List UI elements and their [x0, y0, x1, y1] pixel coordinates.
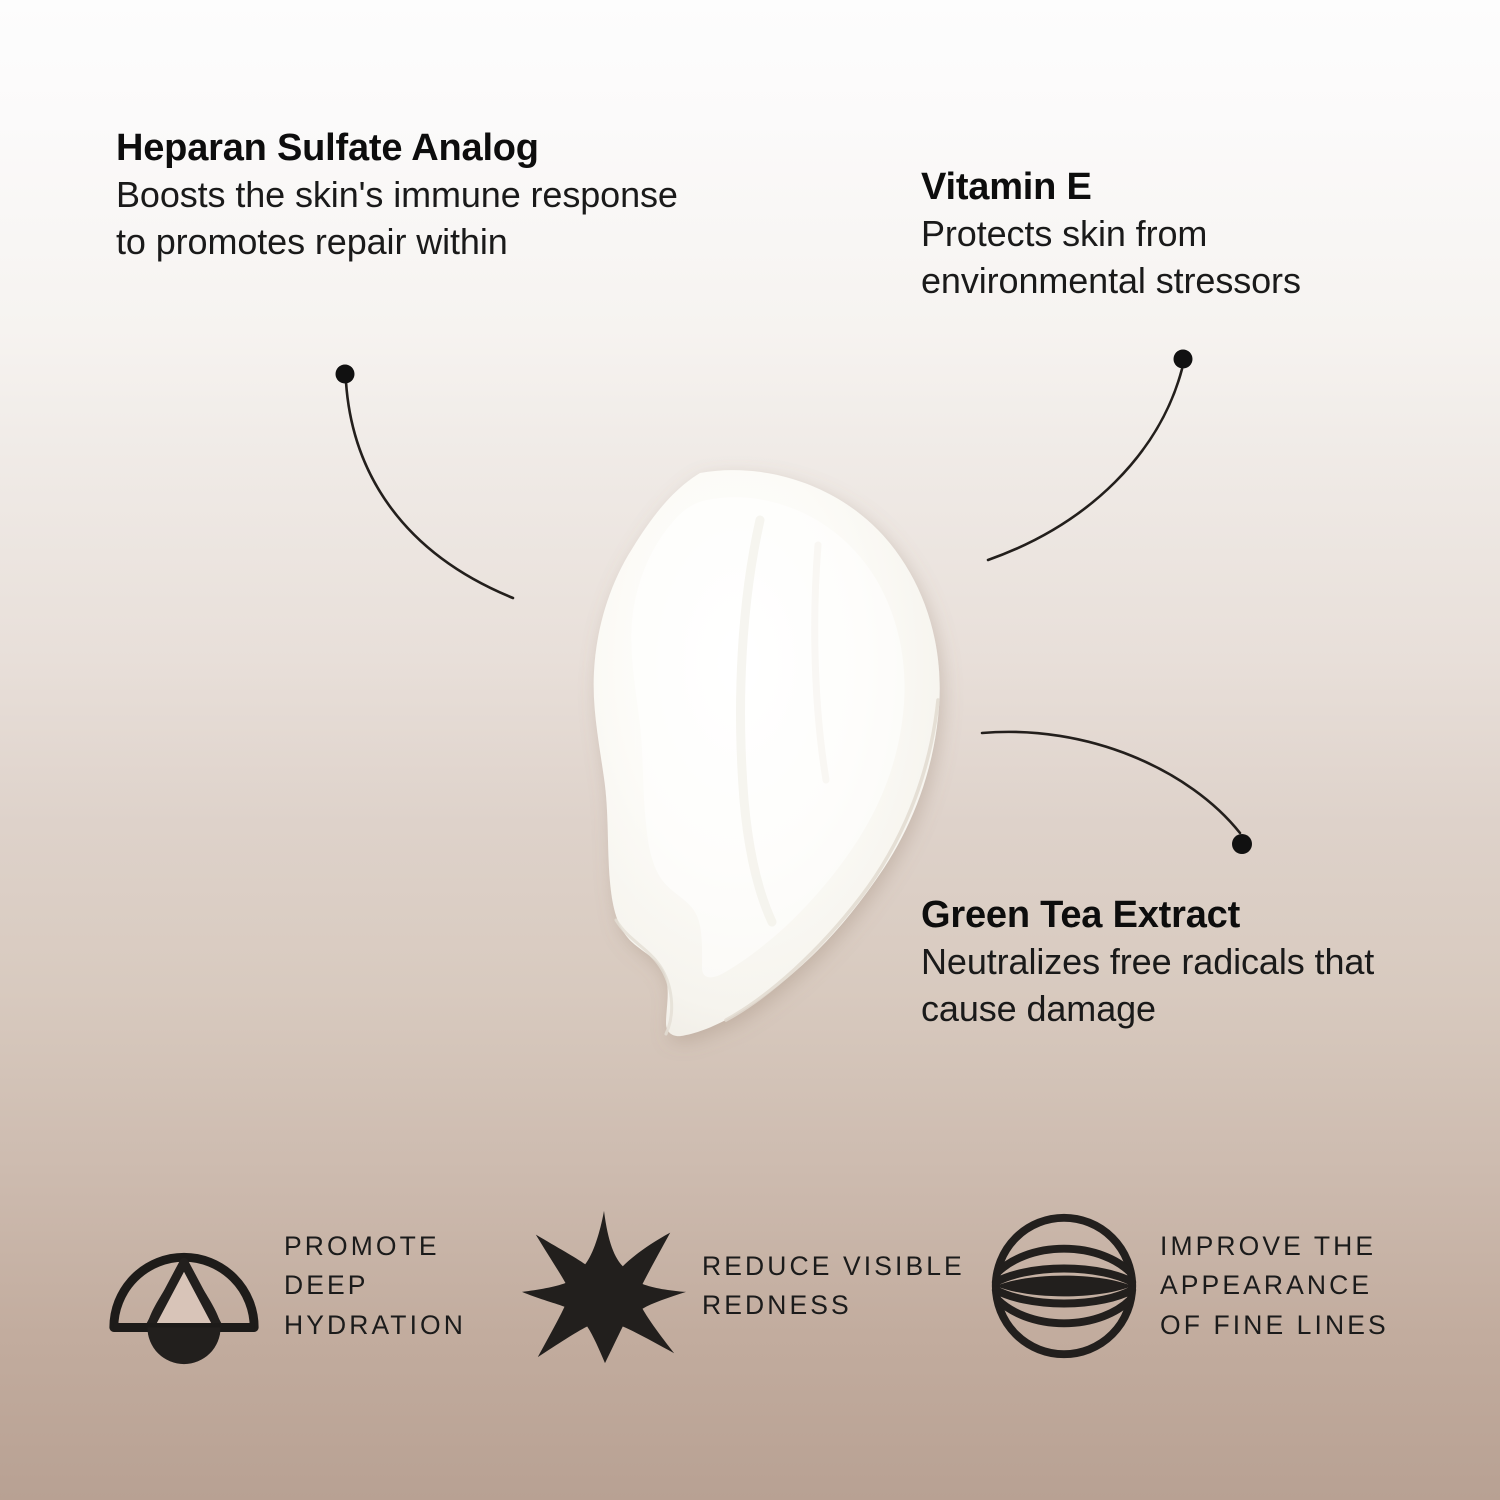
- benefit-reduce-visible-redness: Reduce visible redness: [520, 1196, 965, 1376]
- callout-body-green-tea-extract: Neutralizes free radicals that cause dam…: [921, 939, 1401, 1033]
- callout-title-heparan-sulfate-analog: Heparan Sulfate Analog: [116, 126, 716, 170]
- connector-vitamin-e: [988, 350, 1193, 561]
- callout-title-green-tea-extract: Green Tea Extract: [921, 893, 1401, 937]
- connector-heparan-sulfate: [336, 365, 514, 599]
- benefit-promote-deep-hydration: Promote deep hydration: [100, 1196, 466, 1376]
- connector-green-tea: [982, 732, 1252, 854]
- callout-body-vitamin-e: Protects skin from environmental stresso…: [921, 211, 1401, 305]
- benefit-label-improve-fine-lines: Improve the appearance of fine lines: [1160, 1227, 1389, 1345]
- benefit-improve-fine-lines: Improve the appearance of fine lines: [980, 1196, 1389, 1376]
- starburst-icon: [520, 1206, 688, 1366]
- callout-body-heparan-sulfate-analog: Boosts the skin's immune response to pro…: [116, 172, 716, 266]
- callout-heparan-sulfate-analog: Heparan Sulfate Analog Boosts the skin's…: [116, 126, 716, 266]
- callout-title-vitamin-e: Vitamin E: [921, 165, 1401, 209]
- benefits-row: Promote deep hydration Reduce visible re…: [0, 1196, 1500, 1386]
- connector-dot-heparan-sulfate: [336, 365, 355, 384]
- callout-vitamin-e: Vitamin E Protects skin from environment…: [921, 165, 1401, 305]
- connector-dot-green-tea: [1232, 834, 1252, 854]
- hydration-dome-droplet-icon: [100, 1206, 268, 1366]
- callout-green-tea-extract: Green Tea Extract Neutralizes free radic…: [921, 893, 1401, 1033]
- connector-dot-vitamin-e: [1174, 350, 1193, 369]
- ingredient-benefits-infographic: Heparan Sulfate Analog Boosts the skin's…: [0, 0, 1500, 1500]
- benefit-label-reduce-visible-redness: Reduce visible redness: [702, 1247, 965, 1325]
- benefit-label-promote-deep-hydration: Promote deep hydration: [284, 1227, 466, 1345]
- sphere-lines-icon: [980, 1206, 1148, 1366]
- cream-swatch: [594, 470, 940, 1036]
